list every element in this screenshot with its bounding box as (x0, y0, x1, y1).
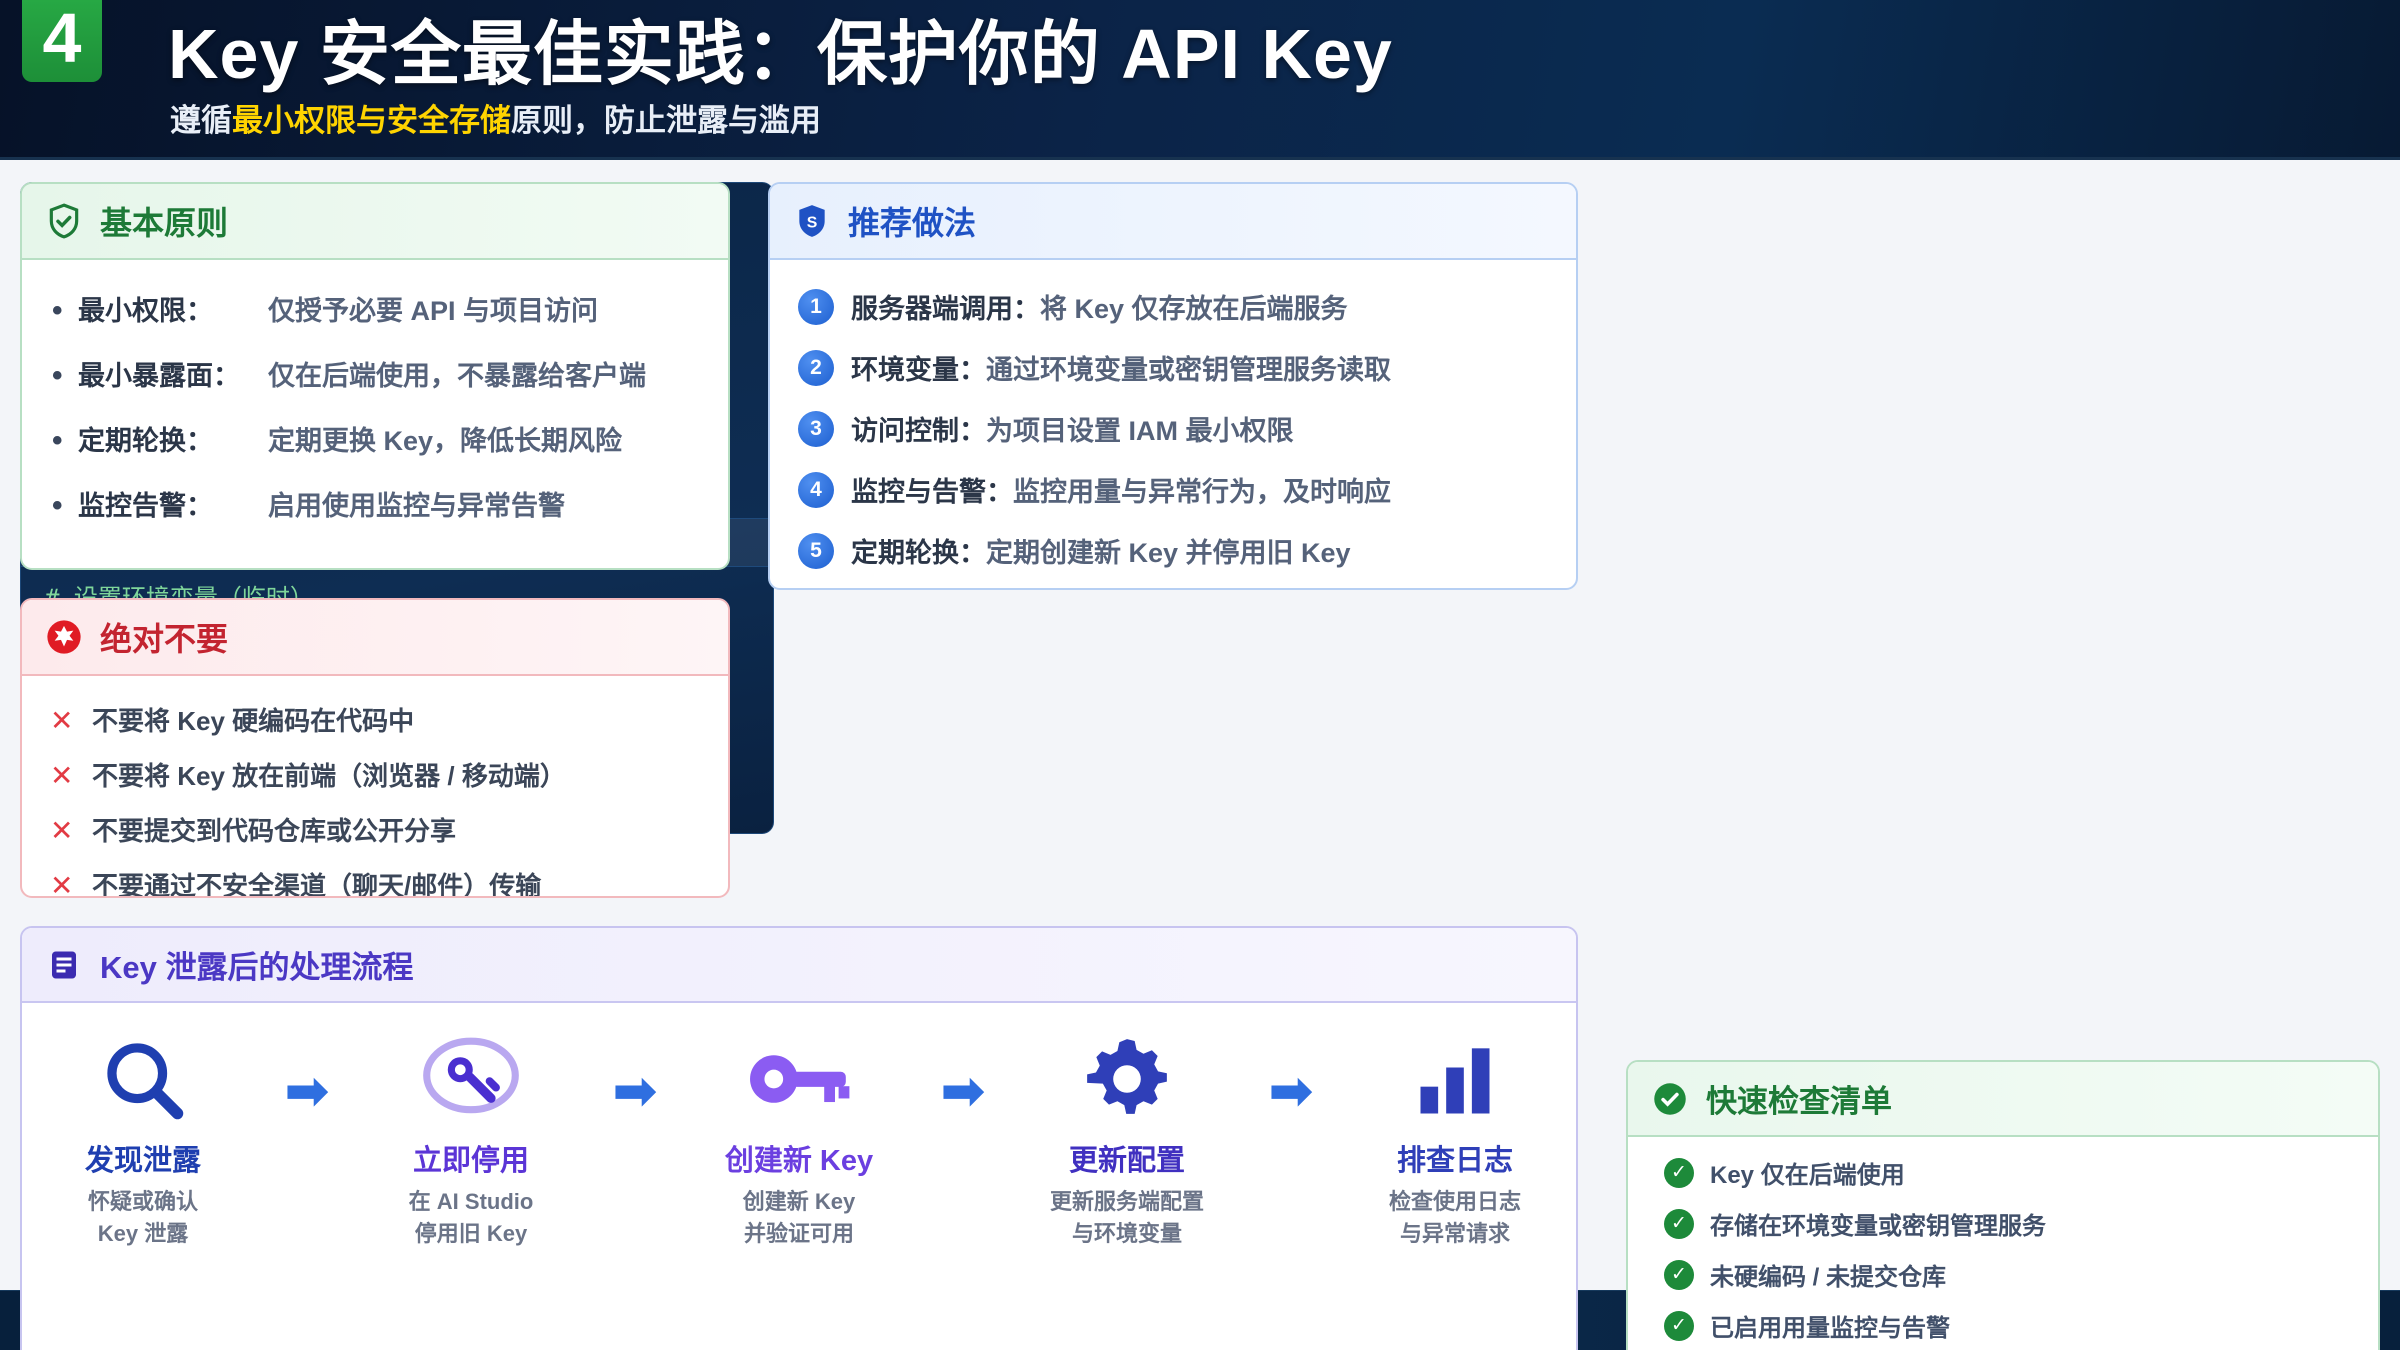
flow-step-desc1: 在 AI Studio (376, 1186, 566, 1218)
step-number-badge: 4 (22, 0, 102, 82)
practice-key: 监控与告警： (851, 477, 1013, 507)
svg-text:S: S (807, 214, 818, 231)
bullet-dot: • (52, 361, 78, 391)
step-number: 2 (798, 350, 834, 386)
cross-icon: ✕ (50, 814, 74, 847)
principle-value: 仅在后端使用，不暴露给客户端 (268, 354, 646, 393)
flow-step-desc1: 创建新 Key (704, 1186, 894, 1218)
check-circle-icon: ✓ (1664, 1209, 1694, 1239)
principle-value: 仅授予必要 API 与项目访问 (268, 289, 598, 328)
flow-step-desc2: Key 泄露 (48, 1218, 238, 1250)
flow-step-desc1: 怀疑或确认 (48, 1186, 238, 1218)
list-item: ✓存储在环境变量或密钥管理服务 (1654, 1198, 2352, 1249)
panel-title-never-do: 绝对不要 (100, 614, 228, 660)
cross-icon: ✕ (50, 704, 74, 737)
principle-key: 最小暴露面： (78, 354, 268, 393)
never-text: 不要提交到代码仓库或公开分享 (92, 811, 456, 848)
flow-steps: 发现泄露 怀疑或确认 Key 泄露 ➡ 立即停用 在 AI Studio 停用旧… (22, 1003, 1576, 1250)
step-number: 4 (798, 472, 834, 508)
magnifier-icon (48, 1027, 238, 1131)
flow-step-desc1: 更新服务端配置 (1032, 1186, 1222, 1218)
panel-header-never-do: 绝对不要 (22, 600, 728, 676)
list-item: 4监控与告警：监控用量与异常行为，及时响应 (796, 459, 1550, 520)
check-circle-icon: ✓ (1664, 1260, 1694, 1290)
checklist-text: Key 仅在后端使用 (1710, 1155, 1905, 1190)
principle-value: 定期更换 Key，降低长期风险 (268, 419, 622, 458)
shield-s-icon: S (792, 202, 832, 240)
list-item: ✓Key 仅在后端使用 (1654, 1147, 2352, 1198)
practice-key: 环境变量： (851, 355, 986, 385)
list-item: ✓已启用用量监控与告警 (1654, 1300, 2352, 1350)
check-circle-icon: ✓ (1664, 1158, 1694, 1188)
bar-chart-icon (1360, 1027, 1550, 1131)
arrow-right-icon: ➡ (940, 1027, 985, 1122)
list-item: ✕不要提交到代码仓库或公开分享 (48, 802, 702, 857)
flow-step-label: 立即停用 (376, 1137, 566, 1179)
flow-step-label: 更新配置 (1032, 1137, 1222, 1179)
principles-list: •最小权限：仅授予必要 API 与项目访问 •最小暴露面：仅在后端使用，不暴露给… (48, 276, 702, 536)
slide-body: 基本原则 •最小权限：仅授予必要 API 与项目访问 •最小暴露面：仅在后端使用… (0, 160, 2400, 1290)
practice-key: 定期轮换： (851, 538, 986, 568)
panel-title-recommended: 推荐做法 (848, 198, 976, 244)
arrow-right-icon: ➡ (1268, 1027, 1313, 1122)
bullet-dot: • (52, 296, 78, 326)
principle-key: 最小权限： (78, 289, 268, 328)
shield-check-icon (44, 202, 84, 240)
flow-step-desc2: 并验证可用 (704, 1218, 894, 1250)
bullet-dot: • (52, 426, 78, 456)
list-item: 2环境变量：通过环境变量或密钥管理服务读取 (796, 337, 1550, 398)
recommended-list: 1服务器端调用：将 Key 仅存放在后端服务 2环境变量：通过环境变量或密钥管理… (796, 276, 1550, 581)
list-item: ✕不要将 Key 放在前端（浏览器 / 移动端） (48, 747, 702, 802)
error-badge-icon (44, 618, 84, 656)
key-disable-icon (376, 1027, 566, 1131)
panel-header-recommended: S 推荐做法 (770, 184, 1576, 260)
clipboard-list-icon (44, 947, 84, 983)
list-item: 5定期轮换：定期创建新 Key 并停用旧 Key (796, 520, 1550, 581)
list-item: ✕不要通过不安全渠道（聊天/邮件）传输 (48, 857, 702, 898)
flow-step-label: 排查日志 (1360, 1137, 1550, 1179)
panel-header-checklist: 快速检查清单 (1628, 1062, 2378, 1137)
practice-value: 为项目设置 IAM 最小权限 (986, 416, 1294, 446)
check-circle-icon (1650, 1081, 1690, 1117)
key-icon (704, 1027, 894, 1131)
practice-value: 定期创建新 Key 并停用旧 Key (986, 538, 1351, 568)
never-text: 不要将 Key 硬编码在代码中 (92, 701, 414, 738)
flow-step-4: 更新配置 更新服务端配置 与环境变量 (1032, 1027, 1222, 1250)
slide-header: 4 Key 安全最佳实践：保护你的 API Key 遵循最小权限与安全存储原则，… (0, 0, 2400, 160)
never-text: 不要通过不安全渠道（聊天/邮件）传输 (92, 866, 541, 898)
panel-never-do: 绝对不要 ✕不要将 Key 硬编码在代码中 ✕不要将 Key 放在前端（浏览器 … (20, 598, 730, 898)
cross-icon: ✕ (50, 759, 74, 792)
panel-quick-checklist: 快速检查清单 ✓Key 仅在后端使用 ✓存储在环境变量或密钥管理服务 ✓未硬编码… (1626, 1060, 2380, 1350)
list-item: ✕不要将 Key 硬编码在代码中 (48, 692, 702, 747)
panel-recommended-practices: S 推荐做法 1服务器端调用：将 Key 仅存放在后端服务 2环境变量：通过环境… (768, 182, 1578, 590)
never-text: 不要将 Key 放在前端（浏览器 / 移动端） (92, 756, 566, 793)
slide-root: 4 Key 安全最佳实践：保护你的 API Key 遵循最小权限与安全存储原则，… (0, 0, 2400, 1350)
list-item: 3访问控制：为项目设置 IAM 最小权限 (796, 398, 1550, 459)
list-item: •定期轮换：定期更换 Key，降低长期风险 (48, 406, 702, 471)
gear-icon (1032, 1027, 1222, 1131)
list-item: 1服务器端调用：将 Key 仅存放在后端服务 (796, 276, 1550, 337)
flow-step-1: 发现泄露 怀疑或确认 Key 泄露 (48, 1027, 238, 1250)
principle-key: 定期轮换： (78, 419, 268, 458)
step-number: 5 (798, 533, 834, 569)
panel-header-basic-principles: 基本原则 (22, 184, 728, 260)
practice-value: 监控用量与异常行为，及时响应 (1013, 477, 1391, 507)
list-item: •最小暴露面：仅在后端使用，不暴露给客户端 (48, 341, 702, 406)
list-item: •监控告警：启用使用监控与异常告警 (48, 471, 702, 536)
panel-header-flow: Key 泄露后的处理流程 (22, 928, 1576, 1003)
step-number: 1 (798, 289, 834, 325)
subtitle-post: 原则，防止泄露与滥用 (511, 103, 821, 138)
panel-leak-response-flow: Key 泄露后的处理流程 发现泄露 怀疑或确认 Key 泄露 ➡ 立即停用 (20, 926, 1578, 1350)
cross-icon: ✕ (50, 869, 74, 898)
principle-value: 启用使用监控与异常告警 (268, 484, 565, 523)
flow-step-5: 排查日志 检查使用日志 与异常请求 (1360, 1027, 1550, 1250)
arrow-right-icon: ➡ (612, 1027, 657, 1122)
practice-value: 通过环境变量或密钥管理服务读取 (986, 355, 1391, 385)
arrow-right-icon: ➡ (284, 1027, 329, 1122)
flow-step-2: 立即停用 在 AI Studio 停用旧 Key (376, 1027, 566, 1250)
flow-step-label: 创建新 Key (704, 1137, 894, 1179)
flow-step-label: 发现泄露 (48, 1137, 238, 1179)
step-number: 3 (798, 411, 834, 447)
flow-step-desc2: 与异常请求 (1360, 1218, 1550, 1250)
practice-key: 服务器端调用： (851, 294, 1040, 324)
practice-key: 访问控制： (851, 416, 986, 446)
checklist-items: ✓Key 仅在后端使用 ✓存储在环境变量或密钥管理服务 ✓未硬编码 / 未提交仓… (1654, 1145, 2352, 1350)
panel-title-flow: Key 泄露后的处理流程 (100, 942, 413, 987)
practice-value: 将 Key 仅存放在后端服务 (1040, 294, 1348, 324)
subtitle-highlight: 最小权限与安全存储 (232, 103, 511, 138)
check-circle-icon: ✓ (1664, 1311, 1694, 1341)
principle-key: 监控告警： (78, 484, 268, 523)
bullet-dot: • (52, 491, 78, 521)
subtitle-pre: 遵循 (170, 103, 232, 138)
list-item: ✓未硬编码 / 未提交仓库 (1654, 1249, 2352, 1300)
panel-basic-principles: 基本原则 •最小权限：仅授予必要 API 与项目访问 •最小暴露面：仅在后端使用… (20, 182, 730, 570)
flow-step-3: 创建新 Key 创建新 Key 并验证可用 (704, 1027, 894, 1250)
never-list: ✕不要将 Key 硬编码在代码中 ✕不要将 Key 放在前端（浏览器 / 移动端… (48, 692, 702, 898)
page-subtitle: 遵循最小权限与安全存储原则，防止泄露与滥用 (170, 95, 821, 140)
list-item: •最小权限：仅授予必要 API 与项目访问 (48, 276, 702, 341)
checklist-text: 已启用用量监控与告警 (1710, 1308, 1950, 1343)
panel-title-checklist: 快速检查清单 (1706, 1076, 1892, 1121)
flow-step-desc1: 检查使用日志 (1360, 1186, 1550, 1218)
flow-step-desc2: 停用旧 Key (376, 1218, 566, 1250)
checklist-text: 存储在环境变量或密钥管理服务 (1710, 1206, 2046, 1241)
flow-step-desc2: 与环境变量 (1032, 1218, 1222, 1250)
page-title: Key 安全最佳实践：保护你的 API Key (168, 0, 1393, 99)
panel-title-basic-principles: 基本原则 (100, 198, 228, 244)
checklist-text: 未硬编码 / 未提交仓库 (1710, 1257, 1946, 1292)
